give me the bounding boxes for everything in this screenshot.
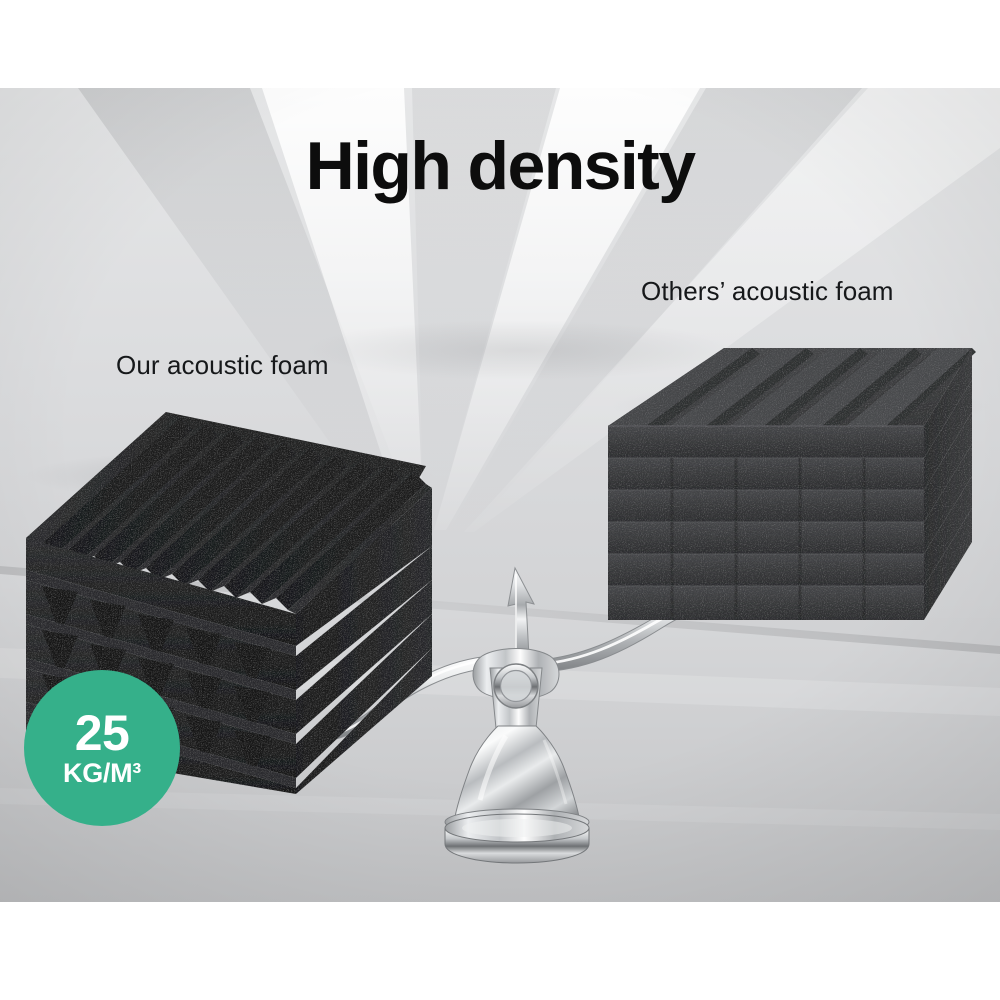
- page-title: High density: [0, 132, 1000, 200]
- label-our-foam: Our acoustic foam: [116, 350, 329, 381]
- scale-column: [454, 726, 580, 822]
- product-marketing-image: 25 KG/M³ High density Our acoustic foam …: [0, 0, 1000, 1000]
- density-badge: 25 KG/M³: [24, 670, 180, 826]
- density-unit: KG/M³: [63, 760, 141, 787]
- foam-stack-others: [594, 338, 984, 648]
- label-others-foam: Others’ acoustic foam: [641, 276, 894, 307]
- density-value: 25: [75, 709, 130, 757]
- scale-pointer-arrow-icon: [508, 568, 534, 656]
